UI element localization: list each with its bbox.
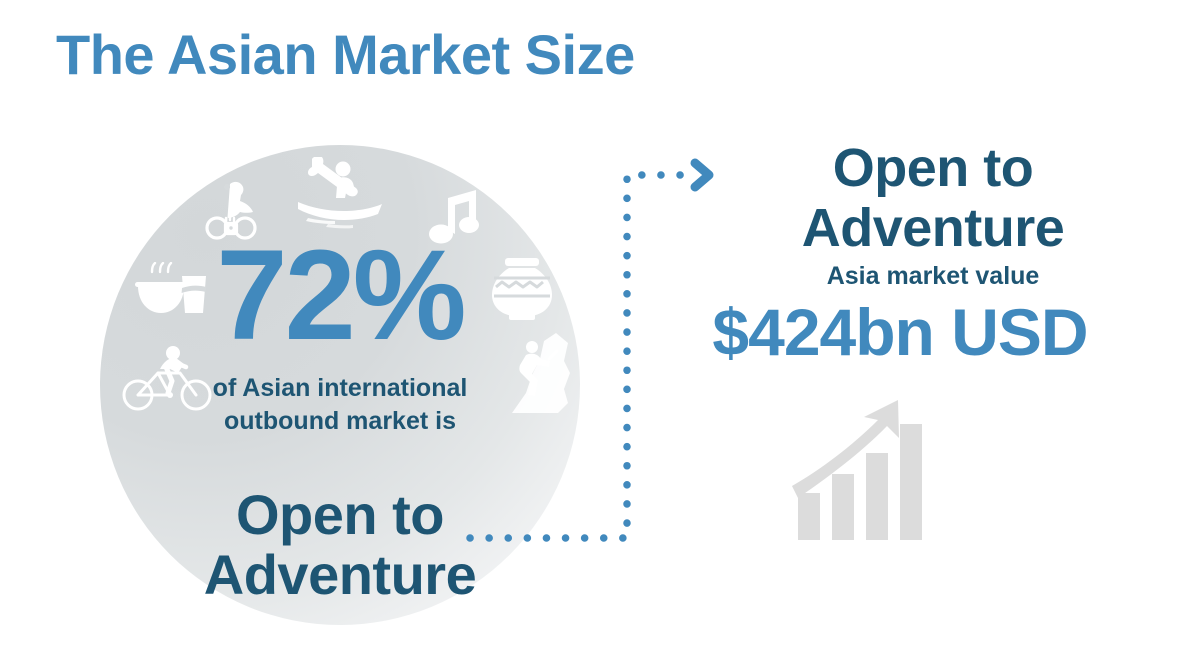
- right-headline: Open to Adventure: [723, 138, 1143, 259]
- page-title: The Asian Market Size: [56, 24, 635, 86]
- growth-chart-icon: [790, 398, 940, 540]
- market-value-amount: $424bn USD: [640, 296, 1160, 369]
- circle-headline-line-2: Adventure: [100, 545, 580, 605]
- statistic-caption-line-1: of Asian international: [100, 372, 580, 405]
- statistic-percent: 72%: [100, 232, 580, 360]
- chevron-right-icon: [695, 163, 709, 187]
- infographic-slide: The Asian Market Size: [0, 0, 1200, 669]
- circle-headline-line-1: Open to: [100, 485, 580, 545]
- statistic-caption-line-2: outbound market is: [100, 405, 580, 438]
- market-value-label: Asia market value: [723, 261, 1143, 291]
- circle-headline: Open to Adventure: [100, 485, 580, 606]
- right-headline-line-2: Adventure: [723, 198, 1143, 258]
- kayaking-icon: [292, 157, 384, 231]
- statistic-caption: of Asian international outbound market i…: [100, 372, 580, 438]
- right-headline-line-1: Open to: [723, 138, 1143, 198]
